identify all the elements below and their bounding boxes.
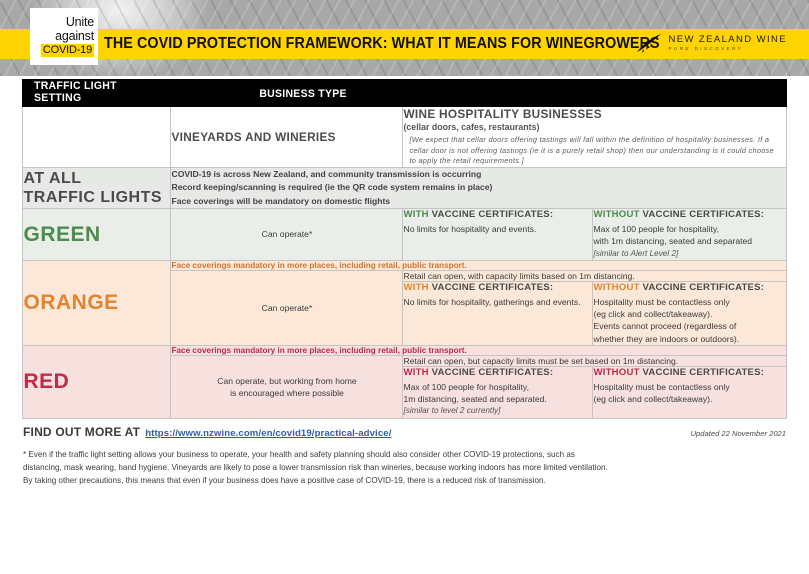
setting-label-at-all: AT ALL TRAFFIC LIGHTS: [23, 167, 171, 209]
orange-without-rest: VACCINE CERTIFICATES:: [640, 282, 765, 293]
red-with-strong: WITH: [403, 367, 428, 378]
orange-with-strong: WITH: [403, 282, 428, 293]
at-all-line1: AT ALL: [23, 169, 170, 188]
red-without-certificates-title: WITHOUT VACCINE CERTIFICATES:: [593, 367, 785, 379]
green-with-rest: VACCINE CERTIFICATES:: [429, 209, 554, 220]
green-without-body-line2: with 1m distancing, seated and separated: [593, 235, 785, 247]
orange-without-strong: WITHOUT: [593, 282, 639, 293]
table-column-headings-row: VINEYARDS AND WINERIES WINE HOSPITALITY …: [23, 107, 786, 168]
orange-vineyards-cell: Can operate*: [171, 270, 403, 345]
orange-without-body-line2: (eg click and collect/takeaway).: [593, 308, 785, 320]
green-without-body-line1: Max of 100 people for hospitality,: [593, 223, 785, 235]
green-with-certificates-cell: WITH VACCINE CERTIFICATES: No limits for…: [403, 209, 593, 261]
orange-with-certificates-cell: WITH VACCINE CERTIFICATES: No limits for…: [403, 281, 593, 345]
orange-without-body-line3: Events cannot proceed (regardless of: [593, 320, 785, 332]
header-cell-business-type: BUSINESS TYPE: [171, 80, 786, 107]
red-without-strong: WITHOUT: [593, 367, 639, 378]
covid-protection-framework-table: TRAFFIC LIGHT SETTING BUSINESS TYPE VINE…: [22, 79, 786, 419]
vineyards-heading: VINEYARDS AND WINERIES: [171, 130, 402, 144]
orange-with-rest: VACCINE CERTIFICATES:: [429, 282, 554, 293]
column-head-vineyards-and-wineries: VINEYARDS AND WINERIES: [171, 107, 403, 168]
red-without-body-line2: (eg click and collect/takeaway).: [593, 393, 785, 405]
nzw-logo-text: NEW ZEALAND WINE PURE DISCOVERY: [669, 34, 787, 52]
row-at-all-traffic-lights: AT ALL TRAFFIC LIGHTS COVID-19 is across…: [23, 167, 786, 209]
row-red-face-coverings: RED Face coverings mandatory in more pla…: [23, 345, 786, 355]
footnote-line-1: * Even if the traffic light setting allo…: [23, 448, 786, 461]
red-with-certificates-cell: WITH VACCINE CERTIFICATES: Max of 100 pe…: [403, 366, 593, 418]
red-without-body-line1: Hospitality must be contactless only: [593, 381, 785, 393]
green-with-certificates-title: WITH VACCINE CERTIFICATES:: [403, 209, 592, 221]
green-with-strong: WITH: [403, 209, 428, 220]
setting-label-green: GREEN: [23, 209, 171, 261]
find-out-more-label: FIND OUT MORE AT: [23, 425, 140, 439]
red-vineyards-line1: Can operate, but working from home: [171, 375, 402, 387]
column-head-blank: [23, 107, 171, 168]
unite-logo-line2: against: [55, 30, 94, 44]
orange-without-certificates-cell: WITHOUT VACCINE CERTIFICATES: Hospitalit…: [593, 281, 786, 345]
page-footer: FIND OUT MORE AT https://www.nzwine.com/…: [23, 425, 786, 487]
green-without-certificates-title: WITHOUT VACCINE CERTIFICATES:: [593, 209, 785, 221]
green-with-body: No limits for hospitality and events.: [403, 223, 592, 235]
red-without-rest: VACCINE CERTIFICATES:: [640, 367, 765, 378]
page-title: THE COVID PROTECTION FRAMEWORK: WHAT IT …: [104, 29, 660, 59]
find-out-more-left: FIND OUT MORE AT https://www.nzwine.com/…: [23, 425, 391, 439]
red-without-certificates-cell: WITHOUT VACCINE CERTIFICATES: Hospitalit…: [593, 366, 786, 418]
business-type-header: BUSINESS TYPE: [171, 88, 347, 100]
hospitality-definition-note: [We expect that cellar doors offering ta…: [403, 135, 785, 167]
green-without-note: [similar to Alert Level 2]: [593, 248, 785, 260]
hospitality-heading: WINE HOSPITALITY BUSINESSES: [403, 107, 785, 121]
new-zealand-wine-logo: NEW ZEALAND WINE PURE DISCOVERY: [636, 33, 787, 53]
unite-against-covid19-logo: Unite against COVID-19: [30, 8, 98, 65]
green-without-strong: WITHOUT: [593, 209, 639, 220]
orange-with-certificates-title: WITH VACCINE CERTIFICATES:: [403, 282, 592, 294]
page-header: Unite against COVID-19 THE COVID PROTECT…: [0, 0, 809, 76]
red-with-certificates-title: WITH VACCINE CERTIFICATES:: [403, 367, 592, 379]
red-retail-line: Retail can open, but capacity limits mus…: [403, 355, 786, 366]
orange-with-body: No limits for hospitality, gatherings an…: [403, 296, 592, 308]
red-with-rest: VACCINE CERTIFICATES:: [429, 367, 554, 378]
orange-without-body-line1: Hospitality must be contactless only: [593, 296, 785, 308]
red-with-body-line2: 1m distancing, seated and separated.: [403, 393, 592, 405]
red-with-note: [similar to level 2 currently]: [403, 405, 592, 417]
orange-retail-line: Retail can open, with capacity limits ba…: [403, 270, 786, 281]
footnote: * Even if the traffic light setting allo…: [23, 448, 786, 487]
at-all-line2: TRAFFIC LIGHTS: [23, 188, 170, 207]
updated-date: Updated 22 November 2021: [691, 429, 786, 438]
silver-fern-icon: [636, 33, 662, 53]
hospitality-subheading: (cellar doors, cafes, restaurants): [403, 122, 785, 132]
at-all-requirements: COVID-19 is across New Zealand, and comm…: [171, 167, 786, 209]
red-with-body-line1: Max of 100 people for hospitality,: [403, 381, 592, 393]
footnote-line-2: distancing, mask wearing, hand hygiene. …: [23, 461, 786, 474]
orange-face-coverings-banner: Face coverings mandatory in more places,…: [171, 260, 786, 270]
find-out-more-row: FIND OUT MORE AT https://www.nzwine.com/…: [23, 425, 786, 439]
nzw-logo-name: NEW ZEALAND WINE: [669, 34, 787, 45]
footnote-line-3: By taking other precautions, this means …: [23, 474, 786, 487]
unite-logo-line3: COVID-19: [41, 44, 94, 57]
row-green: GREEN Can operate* WITH VACCINE CERTIFIC…: [23, 209, 786, 261]
nzwine-practical-advice-link[interactable]: https://www.nzwine.com/en/covid19/practi…: [145, 428, 391, 439]
nzw-logo-tagline: PURE DISCOVERY: [669, 45, 787, 52]
row-orange-face-coverings: ORANGE Face coverings mandatory in more …: [23, 260, 786, 270]
table-header-bar: TRAFFIC LIGHT SETTING BUSINESS TYPE: [23, 80, 786, 107]
orange-without-certificates-title: WITHOUT VACCINE CERTIFICATES:: [593, 282, 785, 294]
header-cell-traffic-light-setting: TRAFFIC LIGHT SETTING: [23, 80, 171, 107]
setting-label-orange: ORANGE: [23, 260, 171, 345]
traffic-light-setting-header: TRAFFIC LIGHT SETTING: [23, 80, 158, 104]
setting-label-red: RED: [23, 345, 171, 418]
at-all-point-3: Face coverings will be mandatory on dome…: [171, 195, 785, 209]
column-head-wine-hospitality-businesses: WINE HOSPITALITY BUSINESSES (cellar door…: [403, 107, 786, 168]
unite-logo-line1: Unite: [66, 16, 94, 30]
green-without-rest: VACCINE CERTIFICATES:: [640, 209, 765, 220]
green-without-certificates-cell: WITHOUT VACCINE CERTIFICATES: Max of 100…: [593, 209, 786, 261]
at-all-point-1: COVID-19 is across New Zealand, and comm…: [171, 168, 785, 182]
at-all-point-2: Record keeping/scanning is required (ie …: [171, 181, 785, 195]
red-vineyards-cell: Can operate, but working from home is en…: [171, 355, 403, 418]
red-face-coverings-banner: Face coverings mandatory in more places,…: [171, 345, 786, 355]
orange-without-body-line4: whether they are indoors or outdoors).: [593, 333, 785, 345]
red-vineyards-line2: is encouraged where possible: [171, 387, 402, 399]
green-vineyards-cell: Can operate*: [171, 209, 403, 261]
